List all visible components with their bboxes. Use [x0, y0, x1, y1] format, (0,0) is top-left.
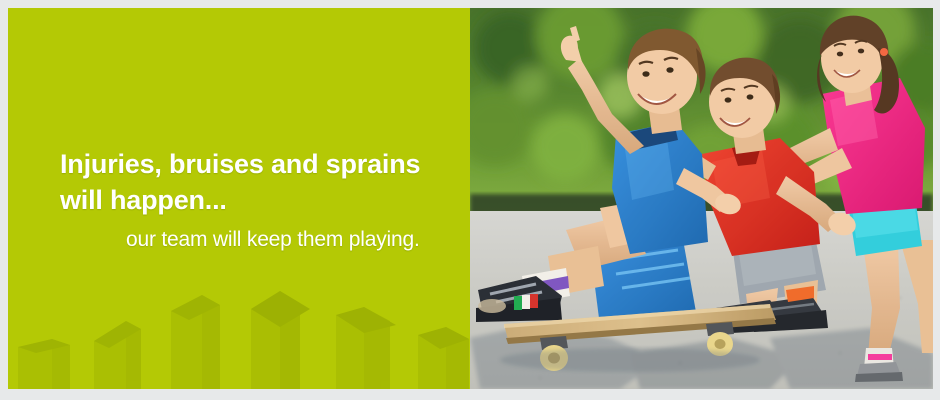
promo-subline: our team will keep them playing.: [52, 227, 452, 253]
headline-line-1: Injuries, bruises and sprains: [52, 146, 452, 182]
promo-panel: Injuries, bruises and sprains will happe…: [8, 8, 469, 389]
hero-photo-illustration: [470, 8, 933, 389]
banner-frame: Injuries, bruises and sprains will happe…: [0, 0, 940, 400]
hero-photo: [470, 8, 933, 389]
promo-banner: Injuries, bruises and sprains will happe…: [8, 8, 933, 389]
promo-copy: Injuries, bruises and sprains will happe…: [52, 146, 452, 253]
promo-headline: Injuries, bruises and sprains will happe…: [52, 146, 452, 253]
headline-line-2: will happen...: [52, 182, 452, 218]
isometric-column-skyline-decoration: [8, 269, 469, 389]
